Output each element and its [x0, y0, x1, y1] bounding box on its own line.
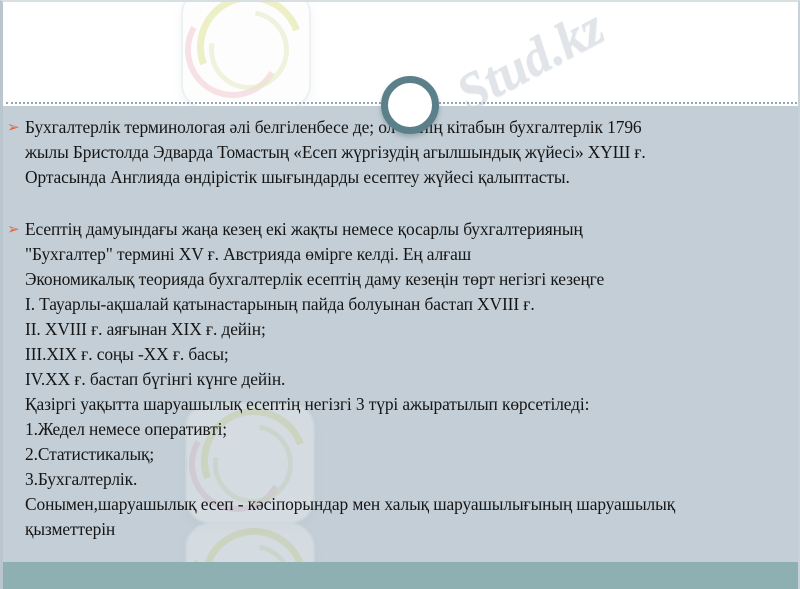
paragraph-line: жылы Бристолда Эдварда Томастың «Есеп жү…	[3, 140, 800, 165]
paragraph-line: 3.Бухгалтерлік.	[3, 467, 800, 492]
paragraph-line: "Бухгалтер" термині XV ғ. Австрияда өмір…	[3, 242, 800, 267]
slide-content: ➢ Бухгалтерлік терминологая әлі белгілен…	[3, 106, 800, 562]
circle-ornament	[381, 76, 439, 134]
paragraph-line: II. XVIII ғ. аяғынан XIX ғ. дейін;	[3, 317, 800, 342]
paragraph-line: Есептің дамуындағы жаңа кезең екі жақты …	[3, 217, 800, 242]
paragraph-line: III.XIX ғ. соңы -XX ғ. басы;	[3, 342, 800, 367]
paragraph-line: қызметтерін	[3, 517, 800, 542]
presentation-slide: - Stud.kz - Stud.kz - Stud.kz - Stud.kz …	[0, 0, 800, 589]
paragraph-line: I. Тауарлы-ақшалай қатынастарының пайда …	[3, 292, 800, 317]
paragraph-line: 1.Жедел немесе оперативті;	[3, 417, 800, 442]
paragraph-line: Қазіргі уақытта шаруашылық есептің негіз…	[3, 392, 800, 417]
paragraph-line: Сонымен,шаруашылық есеп - кәсіпорындар м…	[3, 492, 800, 517]
paragraph-line: IV.XX ғ. бастап бүгінгі күнге дейін.	[3, 367, 800, 392]
bullet-block-2: ➢ Есептің дамуындағы жаңа кезең екі жақт…	[3, 217, 800, 542]
paragraph-line: 2.Статистикалық;	[3, 442, 800, 467]
paragraph-line: Ортасында Англияда өндірістік шығындарды…	[3, 165, 800, 190]
slide-footer-band	[3, 562, 800, 589]
paragraph-line: Экономикалық теорияда бухгалтерлік есепт…	[3, 267, 800, 292]
